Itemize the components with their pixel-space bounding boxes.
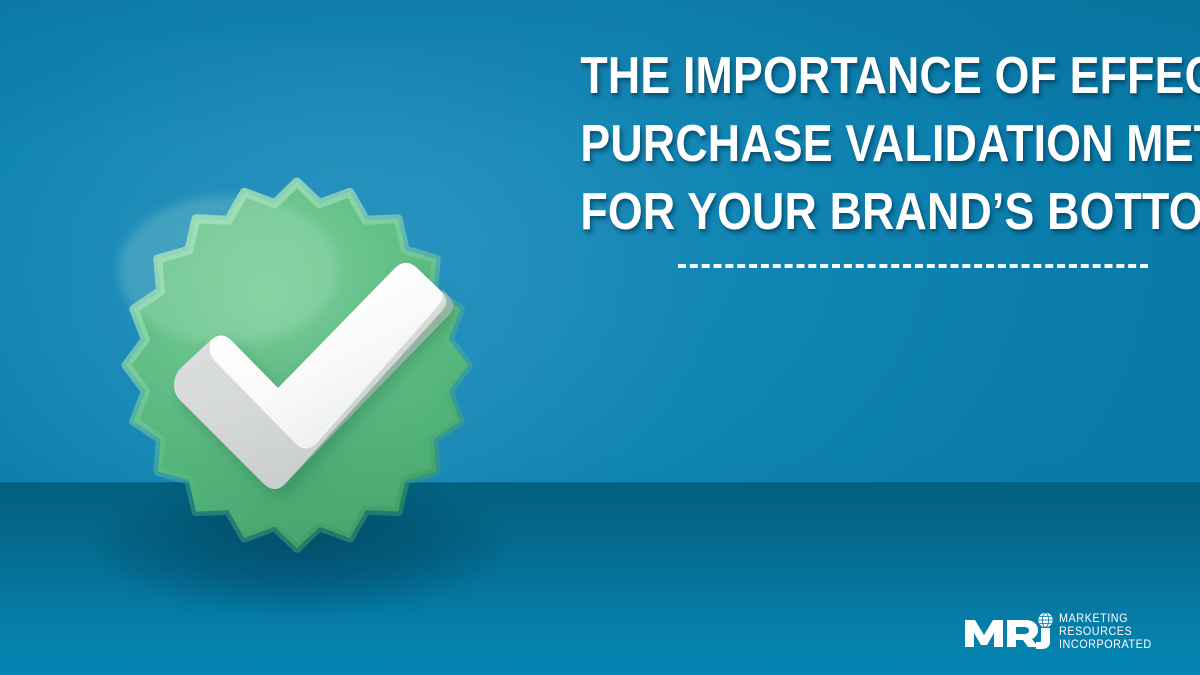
mri-logo-words: MARKETING RESOURCES INCORPORATED [1059, 612, 1162, 651]
title-line-2: PURCHASE VALIDATION METHODS [580, 110, 1148, 178]
banner-root: THE IMPORTANCE OF EFFECTIVE PURCHASE VAL… [0, 0, 1200, 675]
title-dashed-divider [678, 264, 1148, 268]
logo-word-resources: RESOURCES [1059, 625, 1152, 637]
verified-check-badge [78, 150, 516, 588]
badge-starburst [118, 182, 468, 548]
mri-logo: MARKETING RESOURCES INCORPORATED [963, 609, 1162, 653]
title-block: THE IMPORTANCE OF EFFECTIVE PURCHASE VAL… [488, 42, 1148, 268]
badge-specular [118, 196, 338, 344]
badge-svg [78, 150, 516, 588]
title-line-3: FOR YOUR BRAND’S BOTTOM LINE [580, 178, 1148, 246]
mri-wordmark-icon [963, 611, 1055, 651]
logo-word-incorporated: INCORPORATED [1059, 638, 1152, 650]
title-line-1: THE IMPORTANCE OF EFFECTIVE [580, 42, 1148, 110]
logo-word-marketing: MARKETING [1059, 612, 1152, 624]
